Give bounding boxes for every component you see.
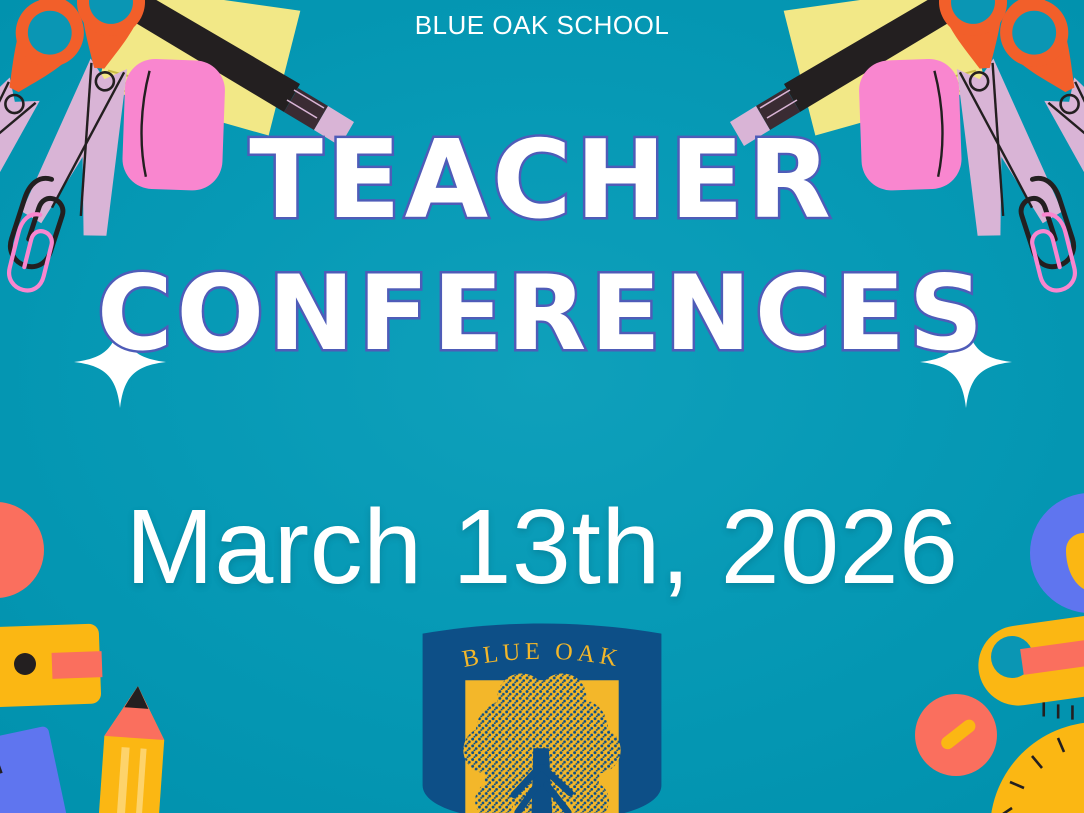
event-date: March 13th, 2026: [0, 487, 1084, 608]
poster-canvas: BLUE OAK SCHOOL TEACHER CONFERENCES Marc…: [0, 0, 1084, 813]
tape-measure-bottom-right: [973, 609, 1084, 726]
headline-block: TEACHER CONFERENCES: [0, 128, 1084, 365]
coral-circle-bottom-right: [915, 694, 997, 776]
pencil-yellow-bottom-left: [91, 684, 168, 813]
sharpener-bottom-left: [0, 623, 102, 708]
protractor-bottom-right: [990, 722, 1084, 813]
headline-line-1: TEACHER: [0, 128, 1084, 234]
headline-line-2: CONFERENCES: [0, 264, 1084, 365]
ruler-blue-bottom-left: [0, 726, 70, 813]
school-crest-logo: BLUE OAK: [413, 622, 671, 813]
school-name-header: BLUE OAK SCHOOL: [0, 10, 1084, 41]
